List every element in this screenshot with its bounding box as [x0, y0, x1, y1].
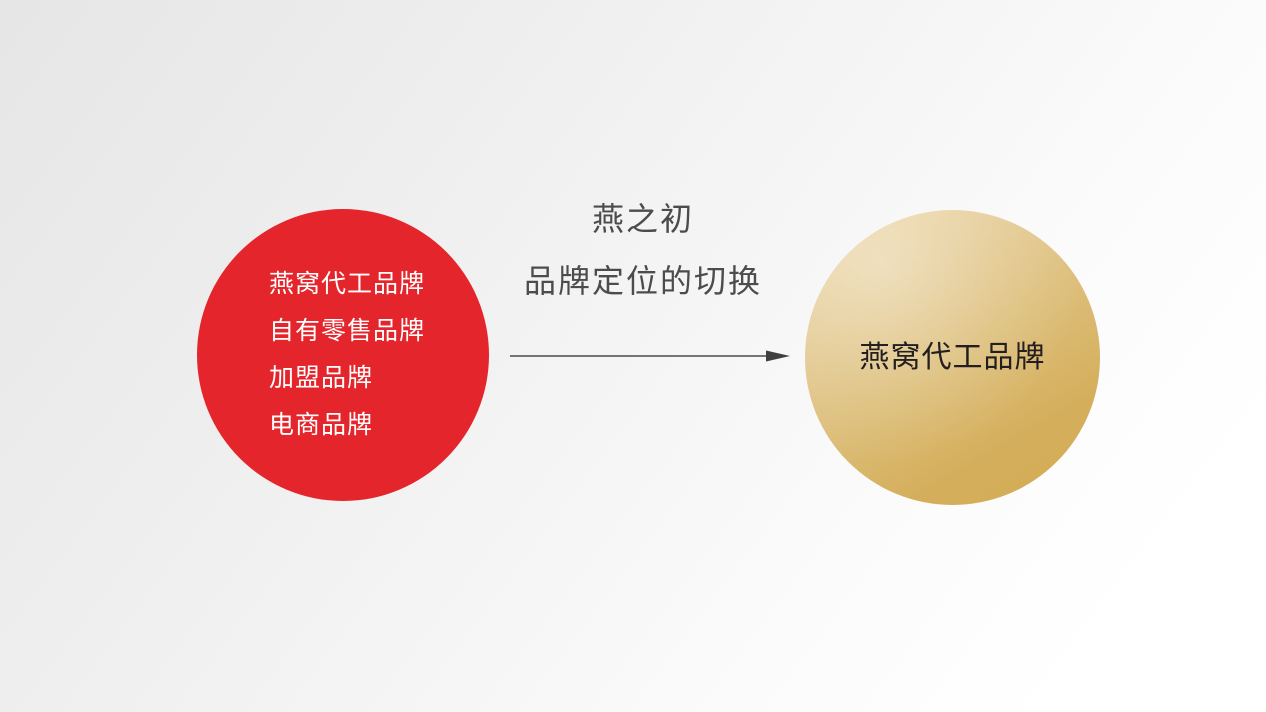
left-circle-item-4: 电商品牌 [269, 402, 489, 449]
title-line-2: 品牌定位的切换 [493, 250, 793, 312]
slide-canvas: 燕窝代工品牌 自有零售品牌 加盟品牌 电商品牌 燕之初 品牌定位的切换 燕窝代工… [0, 0, 1266, 712]
transition-arrow [508, 340, 798, 372]
left-circle-item-1: 燕窝代工品牌 [269, 261, 489, 308]
left-circle-red: 燕窝代工品牌 自有零售品牌 加盟品牌 电商品牌 [197, 209, 489, 501]
title-block: 燕之初 品牌定位的切换 [493, 188, 793, 312]
right-arrow-icon [508, 340, 798, 372]
right-circle-label: 燕窝代工品牌 [860, 332, 1046, 376]
left-circle-item-3: 加盟品牌 [269, 355, 489, 402]
title-line-1: 燕之初 [493, 188, 793, 250]
arrow-head [766, 351, 790, 362]
right-circle-gold: 燕窝代工品牌 [805, 210, 1100, 505]
left-circle-item-2: 自有零售品牌 [269, 308, 489, 355]
